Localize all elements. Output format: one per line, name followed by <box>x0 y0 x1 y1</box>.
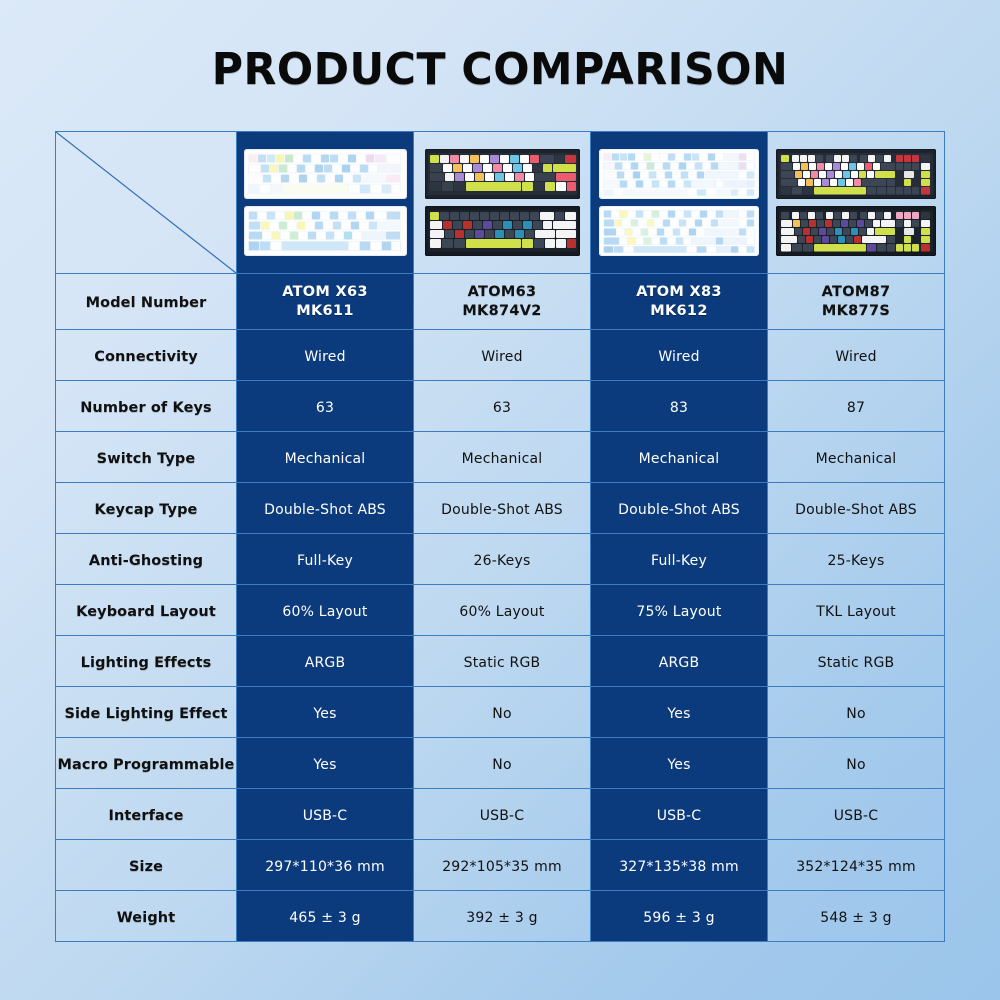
cell-number-of-keys-col2: 63 <box>414 381 591 432</box>
value-macro-programmable-col1: Yes <box>313 757 336 773</box>
row-label-model-number: Model Number <box>86 295 207 311</box>
product-image-cell-col3[interactable] <box>591 132 768 274</box>
model-line2-col2: MK874V2 <box>414 302 590 320</box>
table-row-anti-ghosting: Anti-Ghosting Full-Key 26-Keys Full-Key … <box>56 534 945 585</box>
model-name-col3: ATOM X83 MK612 <box>591 283 767 319</box>
value-side-lighting-effect-col1: Yes <box>313 706 336 722</box>
table-row-keyboard-layout: Keyboard Layout 60% Layout 60% Layout 75… <box>56 585 945 636</box>
value-keycap-type-col2: Double-Shot ABS <box>441 502 563 518</box>
cell-size-col1: 297*110*36 mm <box>237 840 414 891</box>
cell-side-lighting-effect-col1: Yes <box>237 687 414 738</box>
value-anti-ghosting-col3: Full-Key <box>651 553 707 569</box>
keyboard-white-60-pastel-icon <box>244 206 407 256</box>
model-line2-col4: MK877S <box>768 302 944 320</box>
value-switch-type-col3: Mechanical <box>639 451 720 467</box>
cell-anti-ghosting-col3: Full-Key <box>591 534 768 585</box>
table-row-model-number: Model Number ATOM X63 MK611 ATOM63 MK874… <box>56 274 945 330</box>
model-name-col2: ATOM63 MK874V2 <box>414 283 590 319</box>
table-row-macro-programmable: Macro Programmable Yes No Yes No <box>56 738 945 789</box>
table-row-keycap-type: Keycap Type Double-Shot ABS Double-Shot … <box>56 483 945 534</box>
value-side-lighting-effect-col3: Yes <box>667 706 690 722</box>
cell-switch-type-col1: Mechanical <box>237 432 414 483</box>
model-line1-col4: ATOM87 <box>768 283 944 301</box>
value-connectivity-col1: Wired <box>304 349 345 365</box>
row-label-cell-keycap-type: Keycap Type <box>56 483 237 534</box>
value-keycap-type-col1: Double-Shot ABS <box>264 502 386 518</box>
table-row-connectivity: Connectivity Wired Wired Wired Wired <box>56 330 945 381</box>
cell-weight-col2: 392 ± 3 g <box>414 891 591 942</box>
value-connectivity-col2: Wired <box>481 349 522 365</box>
cell-side-lighting-effect-col3: Yes <box>591 687 768 738</box>
value-lighting-effects-col1: ARGB <box>305 655 346 671</box>
cell-keyboard-layout-col2: 60% Layout <box>414 585 591 636</box>
cell-switch-type-col3: Mechanical <box>591 432 768 483</box>
cell-keycap-type-col1: Double-Shot ABS <box>237 483 414 534</box>
cell-size-col4: 352*124*35 mm <box>768 840 945 891</box>
product-image-cell-col1[interactable] <box>237 132 414 274</box>
keyboard-black-60-colorful-icon <box>425 149 580 199</box>
row-label-cell-size: Size <box>56 840 237 891</box>
cell-lighting-effects-col3: ARGB <box>591 636 768 687</box>
row-label-cell-model-number: Model Number <box>56 274 237 330</box>
value-number-of-keys-col2: 63 <box>493 400 511 416</box>
cell-model-number-col1: ATOM X63 MK611 <box>237 274 414 330</box>
model-line1-col1: ATOM X63 <box>237 283 413 301</box>
value-lighting-effects-col3: ARGB <box>659 655 700 671</box>
corner-cell <box>56 132 237 274</box>
model-line2-col3: MK612 <box>591 302 767 320</box>
value-side-lighting-effect-col4: No <box>846 706 865 722</box>
row-label-cell-anti-ghosting: Anti-Ghosting <box>56 534 237 585</box>
keyboard-black-tkl-light-icon <box>776 149 936 199</box>
table-row-interface: Interface USB-C USB-C USB-C USB-C <box>56 789 945 840</box>
product-comparison-table: Model Number ATOM X63 MK611 ATOM63 MK874… <box>55 131 945 942</box>
row-label-switch-type: Switch Type <box>97 451 196 467</box>
value-weight-col4: 548 ± 3 g <box>820 910 891 926</box>
cell-side-lighting-effect-col4: No <box>768 687 945 738</box>
cell-macro-programmable-col4: No <box>768 738 945 789</box>
row-label-cell-keyboard-layout: Keyboard Layout <box>56 585 237 636</box>
cell-lighting-effects-col2: Static RGB <box>414 636 591 687</box>
value-anti-ghosting-col1: Full-Key <box>297 553 353 569</box>
cell-interface-col4: USB-C <box>768 789 945 840</box>
cell-keyboard-layout-col1: 60% Layout <box>237 585 414 636</box>
value-size-col4: 352*124*35 mm <box>796 859 916 875</box>
value-macro-programmable-col3: Yes <box>667 757 690 773</box>
model-line2-col1: MK611 <box>237 302 413 320</box>
model-line1-col2: ATOM63 <box>414 283 590 301</box>
cell-number-of-keys-col4: 87 <box>768 381 945 432</box>
row-label-lighting-effects: Lighting Effects <box>81 655 212 671</box>
row-label-cell-number-of-keys: Number of Keys <box>56 381 237 432</box>
row-label-cell-side-lighting-effect: Side Lighting Effect <box>56 687 237 738</box>
value-macro-programmable-col4: No <box>846 757 865 773</box>
cell-model-number-col3: ATOM X83 MK612 <box>591 274 768 330</box>
value-connectivity-col4: Wired <box>835 349 876 365</box>
row-label-connectivity: Connectivity <box>94 349 198 365</box>
cell-connectivity-col2: Wired <box>414 330 591 381</box>
table-row-size: Size 297*110*36 mm 292*105*35 mm 327*135… <box>56 840 945 891</box>
row-label-side-lighting-effect: Side Lighting Effect <box>64 706 227 722</box>
value-connectivity-col3: Wired <box>658 349 699 365</box>
keyboard-white-60-rgb-icon <box>244 149 407 199</box>
value-anti-ghosting-col4: 25-Keys <box>828 553 885 569</box>
cell-keycap-type-col4: Double-Shot ABS <box>768 483 945 534</box>
value-number-of-keys-col3: 83 <box>670 400 688 416</box>
value-keycap-type-col4: Double-Shot ABS <box>795 502 917 518</box>
cell-lighting-effects-col4: Static RGB <box>768 636 945 687</box>
cell-lighting-effects-col1: ARGB <box>237 636 414 687</box>
value-weight-col3: 596 ± 3 g <box>643 910 714 926</box>
cell-interface-col2: USB-C <box>414 789 591 840</box>
value-weight-col2: 392 ± 3 g <box>466 910 537 926</box>
cell-macro-programmable-col1: Yes <box>237 738 414 789</box>
cell-weight-col4: 548 ± 3 g <box>768 891 945 942</box>
cell-weight-col1: 465 ± 3 g <box>237 891 414 942</box>
cell-macro-programmable-col2: No <box>414 738 591 789</box>
cell-interface-col1: USB-C <box>237 789 414 840</box>
value-switch-type-col1: Mechanical <box>285 451 366 467</box>
value-anti-ghosting-col2: 26-Keys <box>474 553 531 569</box>
value-keyboard-layout-col3: 75% Layout <box>636 604 721 620</box>
table-row-lighting-effects: Lighting Effects ARGB Static RGB ARGB St… <box>56 636 945 687</box>
cell-interface-col3: USB-C <box>591 789 768 840</box>
cell-size-col3: 327*135*38 mm <box>591 840 768 891</box>
value-lighting-effects-col4: Static RGB <box>818 655 895 671</box>
table-row-side-lighting-effect: Side Lighting Effect Yes No Yes No <box>56 687 945 738</box>
value-keyboard-layout-col1: 60% Layout <box>282 604 367 620</box>
value-switch-type-col4: Mechanical <box>816 451 897 467</box>
model-name-col4: ATOM87 MK877S <box>768 283 944 319</box>
value-interface-col1: USB-C <box>303 808 348 824</box>
keyboard-white-75-blue-icon <box>599 149 759 199</box>
cell-switch-type-col2: Mechanical <box>414 432 591 483</box>
cell-model-number-col4: ATOM87 MK877S <box>768 274 945 330</box>
row-label-keycap-type: Keycap Type <box>94 502 197 518</box>
value-weight-col1: 465 ± 3 g <box>289 910 360 926</box>
table-row-weight: Weight 465 ± 3 g 392 ± 3 g 596 ± 3 g 548… <box>56 891 945 942</box>
row-label-cell-lighting-effects: Lighting Effects <box>56 636 237 687</box>
row-label-cell-weight: Weight <box>56 891 237 942</box>
cell-weight-col3: 596 ± 3 g <box>591 891 768 942</box>
value-keyboard-layout-col4: TKL Layout <box>816 604 896 620</box>
row-label-cell-interface: Interface <box>56 789 237 840</box>
diagonal-divider-line-icon <box>56 132 236 273</box>
cell-anti-ghosting-col2: 26-Keys <box>414 534 591 585</box>
value-side-lighting-effect-col2: No <box>492 706 511 722</box>
table-row-number-of-keys: Number of Keys 63 63 83 87 <box>56 381 945 432</box>
product-image-cell-col2[interactable] <box>414 132 591 274</box>
value-keycap-type-col3: Double-Shot ABS <box>618 502 740 518</box>
value-number-of-keys-col4: 87 <box>847 400 865 416</box>
cell-keycap-type-col2: Double-Shot ABS <box>414 483 591 534</box>
cell-number-of-keys-col3: 83 <box>591 381 768 432</box>
cell-connectivity-col4: Wired <box>768 330 945 381</box>
row-label-cell-connectivity: Connectivity <box>56 330 237 381</box>
row-label-interface: Interface <box>108 808 183 824</box>
value-keyboard-layout-col2: 60% Layout <box>459 604 544 620</box>
row-label-cell-switch-type: Switch Type <box>56 432 237 483</box>
keyboard-black-60-dark-icon <box>425 206 580 256</box>
cell-model-number-col2: ATOM63 MK874V2 <box>414 274 591 330</box>
cell-connectivity-col1: Wired <box>237 330 414 381</box>
cell-anti-ghosting-col1: Full-Key <box>237 534 414 585</box>
cell-switch-type-col4: Mechanical <box>768 432 945 483</box>
table-header-row <box>56 132 945 274</box>
cell-keyboard-layout-col4: TKL Layout <box>768 585 945 636</box>
row-label-macro-programmable: Macro Programmable <box>57 757 234 773</box>
row-label-number-of-keys: Number of Keys <box>80 400 212 416</box>
value-size-col3: 327*135*38 mm <box>619 859 739 875</box>
value-lighting-effects-col2: Static RGB <box>464 655 541 671</box>
cell-side-lighting-effect-col2: No <box>414 687 591 738</box>
cell-keycap-type-col3: Double-Shot ABS <box>591 483 768 534</box>
row-label-weight: Weight <box>117 910 176 926</box>
product-image-cell-col4[interactable] <box>768 132 945 274</box>
cell-anti-ghosting-col4: 25-Keys <box>768 534 945 585</box>
value-interface-col4: USB-C <box>834 808 879 824</box>
cell-number-of-keys-col1: 63 <box>237 381 414 432</box>
keyboard-white-75-pastel-icon <box>599 206 759 256</box>
model-line1-col3: ATOM X83 <box>591 283 767 301</box>
table-row-switch-type: Switch Type Mechanical Mechanical Mechan… <box>56 432 945 483</box>
cell-connectivity-col3: Wired <box>591 330 768 381</box>
row-label-keyboard-layout: Keyboard Layout <box>76 604 216 620</box>
cell-keyboard-layout-col3: 75% Layout <box>591 585 768 636</box>
keyboard-black-tkl-dark-icon <box>776 206 936 256</box>
page-title: PRODUCT COMPARISON <box>15 44 985 95</box>
row-label-size: Size <box>129 859 163 875</box>
cell-macro-programmable-col3: Yes <box>591 738 768 789</box>
value-macro-programmable-col2: No <box>492 757 511 773</box>
value-switch-type-col2: Mechanical <box>462 451 543 467</box>
value-size-col1: 297*110*36 mm <box>265 859 385 875</box>
model-name-col1: ATOM X63 MK611 <box>237 283 413 319</box>
value-interface-col2: USB-C <box>480 808 525 824</box>
value-interface-col3: USB-C <box>657 808 702 824</box>
value-size-col2: 292*105*35 mm <box>442 859 562 875</box>
row-label-cell-macro-programmable: Macro Programmable <box>56 738 237 789</box>
cell-size-col2: 292*105*35 mm <box>414 840 591 891</box>
value-number-of-keys-col1: 63 <box>316 400 334 416</box>
row-label-anti-ghosting: Anti-Ghosting <box>89 553 203 569</box>
